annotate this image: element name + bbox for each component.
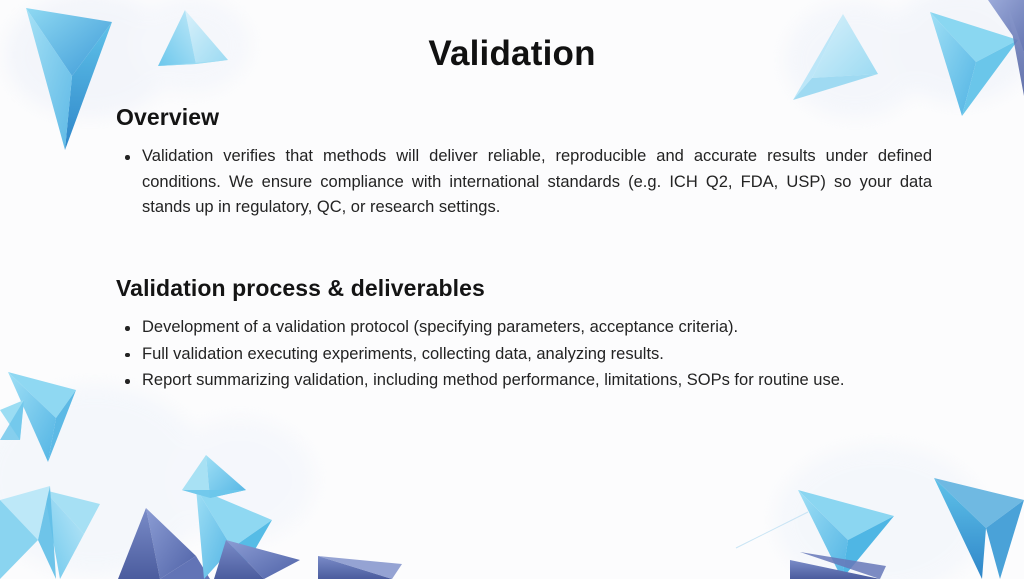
bullet-list-process: Development of a validation protocol (sp…	[116, 315, 916, 394]
slide-content: Validation Overview Validation verifies …	[0, 0, 1024, 579]
page-title: Validation	[0, 34, 1024, 74]
list-item: Full validation executing experiments, c…	[116, 342, 916, 368]
section-overview: Overview Validation verifies that method…	[116, 104, 916, 222]
section-process: Validation process & deliverables Develo…	[116, 275, 916, 395]
list-item: Report summarizing validation, including…	[116, 368, 914, 394]
slide-canvas: Validation Overview Validation verifies …	[0, 0, 1024, 579]
bullet-list-overview: Validation verifies that methods will de…	[116, 144, 916, 221]
section-heading-process: Validation process & deliverables	[116, 275, 916, 302]
list-item: Development of a validation protocol (sp…	[116, 315, 916, 341]
section-heading-overview: Overview	[116, 104, 916, 131]
list-item: Validation verifies that methods will de…	[116, 144, 932, 221]
